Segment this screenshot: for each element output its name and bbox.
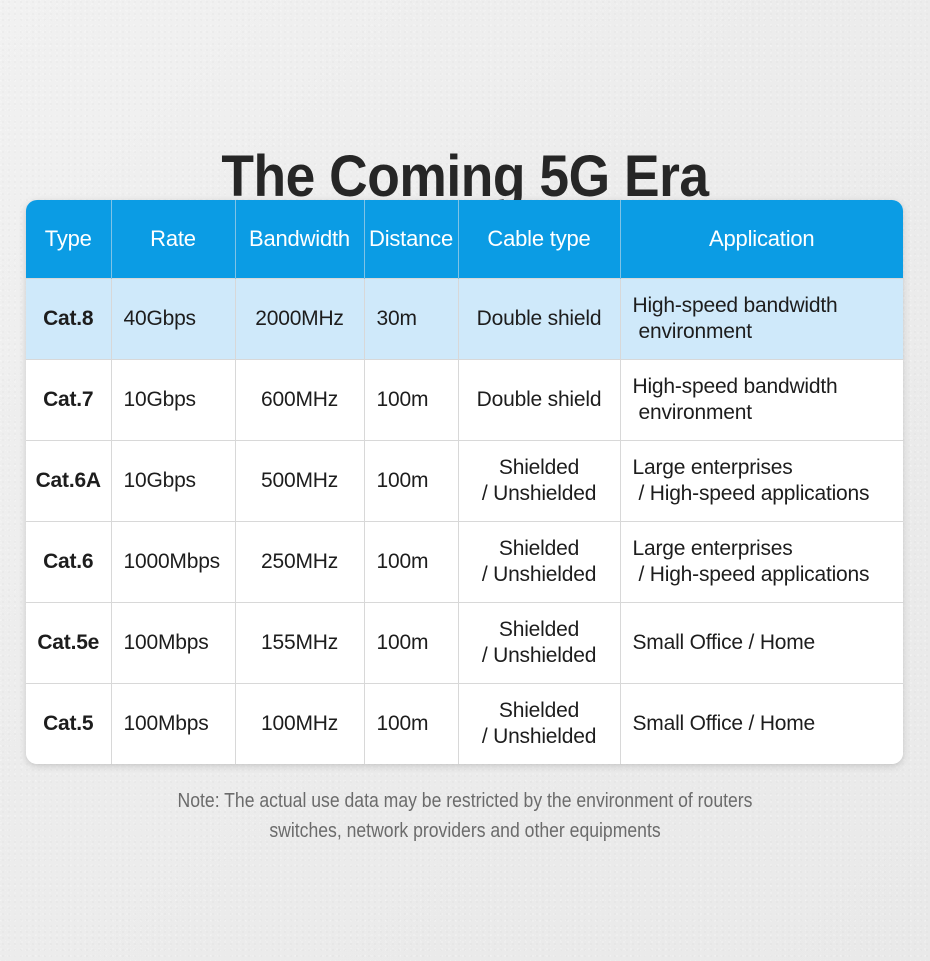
table-body: Cat.840Gbps2000MHz30mDouble shieldHigh-s… [26, 279, 903, 765]
cell-application: Large enterprises/ High-speed applicatio… [620, 522, 903, 603]
cable-spec-table: Type Rate Bandwidth Distance Cable type … [26, 200, 903, 764]
cell-application-text: High-speed bandwidthenvironment [633, 374, 892, 426]
cell-rate: 1000Mbps [111, 522, 235, 603]
cell-application: High-speed bandwidthenvironment [620, 360, 903, 441]
cell-bandwidth: 500MHz [235, 441, 364, 522]
cell-application-line-1: Large enterprises [633, 456, 793, 479]
cell-type: Cat.6A [26, 441, 111, 522]
cell-cable-type-line-1: Double shield [477, 388, 602, 411]
cell-application-line-2: environment [633, 400, 892, 426]
cell-application-text: Large enterprises/ High-speed applicatio… [633, 455, 892, 507]
cell-cable-type-text: Shielded/ Unshielded [471, 698, 608, 750]
cell-type: Cat.5e [26, 603, 111, 684]
cell-application-line-1: Large enterprises [633, 537, 793, 560]
cell-cable-type-text: Double shield [471, 306, 608, 332]
table-header: Type Rate Bandwidth Distance Cable type … [26, 200, 903, 279]
cell-rate: 10Gbps [111, 441, 235, 522]
table-row: Cat.840Gbps2000MHz30mDouble shieldHigh-s… [26, 279, 903, 360]
cell-rate: 40Gbps [111, 279, 235, 360]
cell-application-text: High-speed bandwidthenvironment [633, 293, 892, 345]
cell-bandwidth: 250MHz [235, 522, 364, 603]
cell-application: Small Office / Home [620, 684, 903, 765]
cell-distance: 30m [364, 279, 458, 360]
column-header-bandwidth: Bandwidth [235, 200, 364, 279]
cell-type: Cat.6 [26, 522, 111, 603]
cell-application-line-2: environment [633, 319, 892, 345]
cell-cable-type: Double shield [458, 360, 620, 441]
cell-bandwidth: 600MHz [235, 360, 364, 441]
cell-cable-type-text: Shielded/ Unshielded [471, 617, 608, 669]
table-row: Cat.6A10Gbps500MHz100mShielded/ Unshield… [26, 441, 903, 522]
table-row: Cat.710Gbps600MHz100mDouble shieldHigh-s… [26, 360, 903, 441]
infographic-page: The Coming 5G Era Type Rate Bandwidth Di… [0, 0, 930, 961]
column-header-cable-type: Cable type [458, 200, 620, 279]
cell-cable-type-line-1: Shielded [499, 537, 579, 560]
cell-cable-type-line-1: Shielded [499, 456, 579, 479]
cell-type: Cat.7 [26, 360, 111, 441]
cell-distance: 100m [364, 603, 458, 684]
table-row: Cat.5100Mbps100MHz100mShielded/ Unshield… [26, 684, 903, 765]
cell-cable-type-line-2: / Unshielded [471, 643, 608, 669]
cell-cable-type: Double shield [458, 279, 620, 360]
cell-distance: 100m [364, 441, 458, 522]
cell-application-line-1: High-speed bandwidth [633, 294, 838, 317]
table-row: Cat.61000Mbps250MHz100mShielded/ Unshiel… [26, 522, 903, 603]
cell-application: Large enterprises/ High-speed applicatio… [620, 441, 903, 522]
cell-application-text: Small Office / Home [633, 711, 892, 737]
cell-cable-type: Shielded/ Unshielded [458, 441, 620, 522]
cell-cable-type: Shielded/ Unshielded [458, 522, 620, 603]
cell-distance: 100m [364, 684, 458, 765]
table-header-row: Type Rate Bandwidth Distance Cable type … [26, 200, 903, 279]
cell-cable-type-line-2: / Unshielded [471, 724, 608, 750]
cell-application-line-1: Small Office / Home [633, 712, 816, 735]
cell-cable-type-line-2: / Unshielded [471, 481, 608, 507]
cell-application-text: Large enterprises/ High-speed applicatio… [633, 536, 892, 588]
column-header-rate: Rate [111, 200, 235, 279]
column-header-application: Application [620, 200, 903, 279]
cell-bandwidth: 100MHz [235, 684, 364, 765]
cell-application-line-2: / High-speed applications [633, 562, 892, 588]
cell-bandwidth: 155MHz [235, 603, 364, 684]
cable-spec-table-container: Type Rate Bandwidth Distance Cable type … [26, 200, 903, 764]
note-line-2: switches, network providers and other eq… [56, 816, 874, 846]
cell-cable-type: Shielded/ Unshielded [458, 684, 620, 765]
cell-cable-type-text: Shielded/ Unshielded [471, 536, 608, 588]
cell-distance: 100m [364, 522, 458, 603]
cell-application-line-1: High-speed bandwidth [633, 375, 838, 398]
cell-cable-type-line-1: Shielded [499, 618, 579, 641]
cell-application: Small Office / Home [620, 603, 903, 684]
cell-rate: 100Mbps [111, 603, 235, 684]
cell-cable-type-text: Shielded/ Unshielded [471, 455, 608, 507]
cell-type: Cat.8 [26, 279, 111, 360]
cell-cable-type-line-2: / Unshielded [471, 562, 608, 588]
table-note: Note: The actual use data may be restric… [56, 786, 874, 846]
cell-application-line-2: / High-speed applications [633, 481, 892, 507]
cell-rate: 10Gbps [111, 360, 235, 441]
cell-cable-type-text: Double shield [471, 387, 608, 413]
cell-application-line-1: Small Office / Home [633, 631, 816, 654]
cell-type: Cat.5 [26, 684, 111, 765]
table-row: Cat.5e100Mbps155MHz100mShielded/ Unshiel… [26, 603, 903, 684]
cell-rate: 100Mbps [111, 684, 235, 765]
cell-cable-type-line-1: Double shield [477, 307, 602, 330]
column-header-type: Type [26, 200, 111, 279]
cell-cable-type-line-1: Shielded [499, 699, 579, 722]
cell-application-text: Small Office / Home [633, 630, 892, 656]
cell-bandwidth: 2000MHz [235, 279, 364, 360]
cell-cable-type: Shielded/ Unshielded [458, 603, 620, 684]
note-line-1: Note: The actual use data may be restric… [56, 786, 874, 816]
cell-distance: 100m [364, 360, 458, 441]
cell-application: High-speed bandwidthenvironment [620, 279, 903, 360]
column-header-distance: Distance [364, 200, 458, 279]
